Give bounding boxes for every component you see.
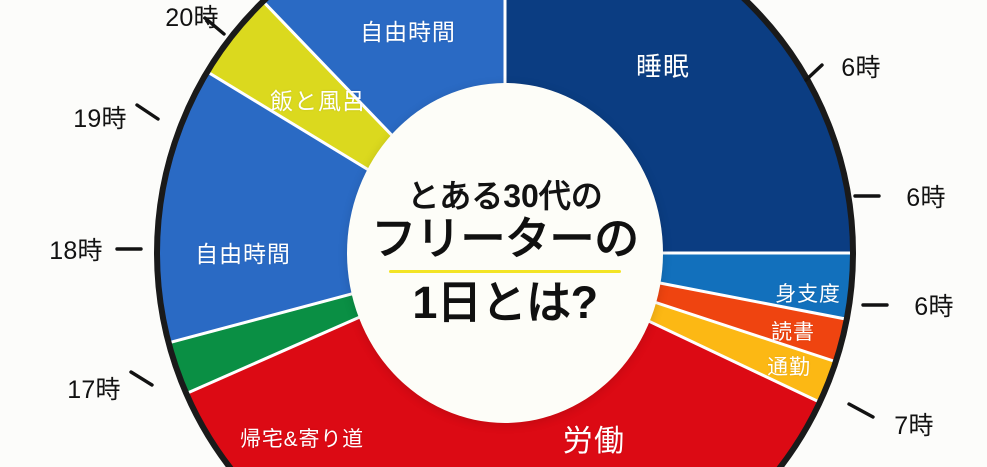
tick-label-20: 20時 bbox=[165, 0, 219, 34]
tick-mark-6a bbox=[806, 65, 822, 80]
tick-mark-7 bbox=[849, 404, 873, 417]
tick-label-6-morning: 6時 bbox=[841, 48, 880, 84]
title-line-2: フリーターの bbox=[371, 215, 638, 262]
tick-label-6-second: 6時 bbox=[906, 178, 945, 214]
tick-label-17: 17時 bbox=[67, 370, 121, 406]
title-divider bbox=[389, 270, 621, 273]
infographic-canvas: 睡眠 自由時間 飯と風呂 自由時間 帰宅&寄り道 労働 身支度 読書 通勤 6時… bbox=[0, 0, 987, 467]
tick-label-19: 19時 bbox=[73, 99, 127, 135]
tick-label-18: 18時 bbox=[49, 231, 103, 267]
title-line-3: 1日とは? bbox=[412, 279, 597, 326]
title-line-1: とある30代の bbox=[407, 180, 603, 214]
center-title-badge: とある30代の フリーターの 1日とは? bbox=[347, 83, 663, 423]
tick-label-6-third: 6時 bbox=[914, 287, 953, 323]
tick-label-7: 7時 bbox=[894, 406, 933, 442]
tick-mark-19 bbox=[137, 105, 158, 119]
tick-mark-17 bbox=[131, 372, 152, 385]
